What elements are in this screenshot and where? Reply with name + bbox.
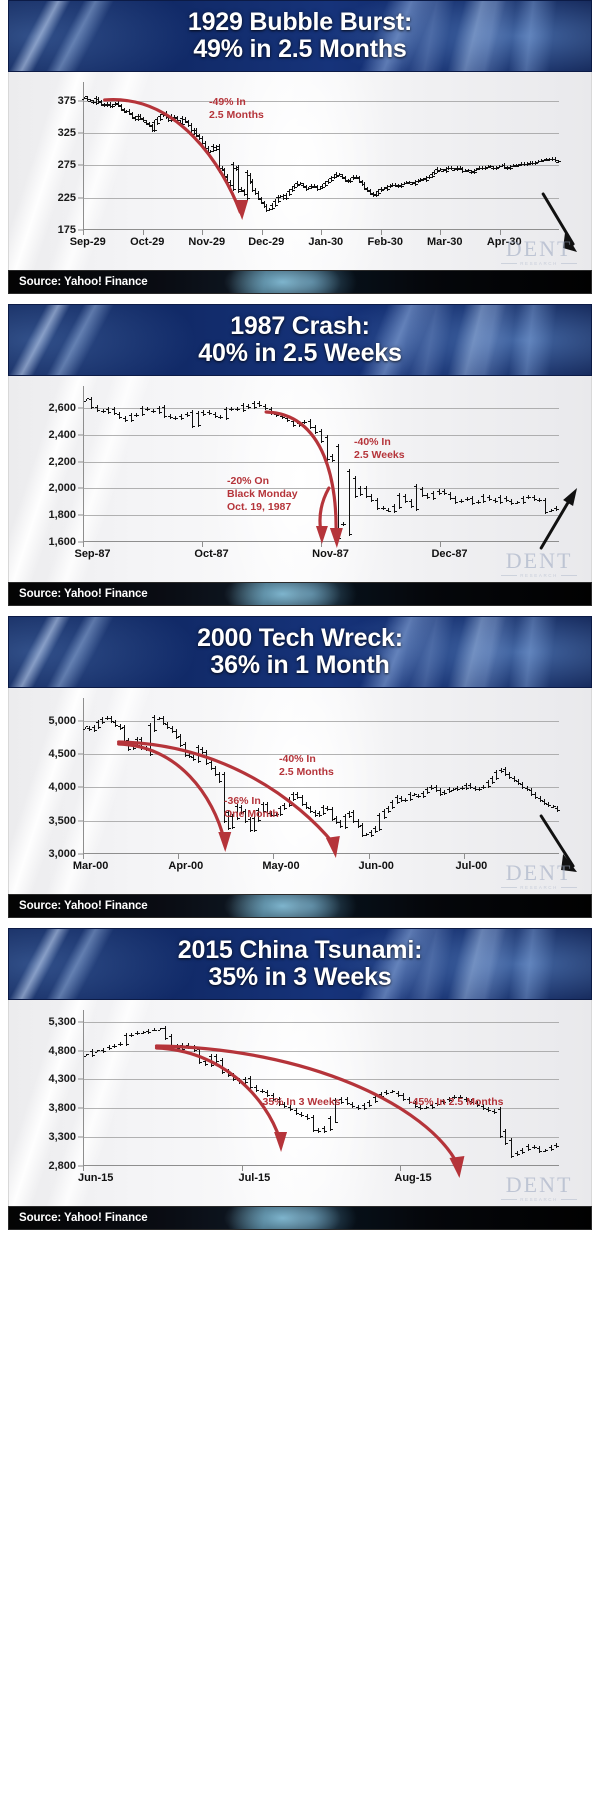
price-bar-open-tick [508, 167, 510, 168]
x-axis-tick-mark [381, 230, 382, 235]
price-bar-open-tick [438, 170, 440, 171]
panel-2000: 2000 Tech Wreck: 36% in 1 Month 3,0003,5… [8, 616, 592, 918]
price-bar-open-tick [371, 194, 373, 195]
price-bar-open-tick [166, 117, 168, 118]
price-bar-close-tick [559, 161, 561, 162]
price-bar-close-tick [395, 511, 397, 512]
price-bar-open-tick [157, 719, 159, 720]
price-bar-close-tick [341, 826, 343, 827]
price-bar-open-tick [487, 497, 489, 498]
price-bar-open-tick [373, 828, 375, 829]
price-bar-close-tick [125, 742, 127, 743]
price-bar-open-tick [354, 177, 356, 178]
x-axis-tick-label: Sep-87 [74, 548, 110, 560]
price-bar-open-tick [218, 417, 220, 418]
price-bar-open-tick [243, 1079, 245, 1080]
price-bar-open-tick [466, 171, 468, 172]
price-bar-open-tick [459, 501, 461, 502]
price-bar-open-tick [105, 718, 107, 719]
x-axis-tick-mark [400, 1166, 401, 1171]
price-bar-open-tick [163, 1028, 165, 1029]
price-bar-open-tick [470, 498, 472, 499]
price-bar-open-tick [538, 798, 540, 799]
y-axis-tick-label: 4,000 [48, 781, 76, 793]
price-bar-close-tick [143, 414, 145, 415]
price-bar-close-tick [339, 538, 341, 539]
price-bar-open-tick [451, 790, 453, 791]
price-bar-open-tick [217, 146, 219, 147]
price-bar-open-tick [313, 427, 315, 428]
price-bar-open-tick [379, 1094, 381, 1095]
x-axis-tick-mark [500, 230, 501, 235]
price-bar-open-tick [118, 726, 120, 727]
price-bar-open-tick [237, 1080, 239, 1081]
price-bar-open-tick [157, 408, 159, 409]
price-bar-close-tick [147, 749, 149, 750]
price-bar-close-tick [233, 827, 235, 828]
price-bar [327, 435, 328, 461]
price-bar-open-tick [144, 748, 146, 749]
x-axis-tick-mark [273, 854, 274, 859]
price-bar-open-tick [301, 185, 303, 186]
gridline [83, 515, 559, 516]
price-bar-open-tick [502, 165, 504, 166]
price-bar-open-tick [403, 800, 405, 801]
x-axis-tick-label: Nov-87 [312, 548, 349, 560]
chart-area-1929: 175225275325375Sep-29Oct-29Nov-29Dec-29J… [8, 72, 592, 270]
gridline [83, 1051, 559, 1052]
y-axis-tick-label: 375 [58, 95, 76, 107]
x-axis-tick-mark [262, 230, 263, 235]
panel-title-banner-1987: 1987 Crash: 40% in 2.5 Weeks [8, 304, 592, 376]
price-bar-open-tick [532, 497, 534, 498]
price-bar-open-tick [407, 183, 409, 184]
price-bar-close-tick [251, 830, 253, 831]
price-bar-open-tick [431, 493, 433, 494]
price-bar-close-tick [172, 120, 174, 121]
price-bar-open-tick [158, 1030, 160, 1031]
dent-wordmark: DENT [501, 862, 577, 884]
price-bar-open-tick [514, 166, 516, 167]
price-bar [427, 493, 428, 500]
price-bar [349, 469, 350, 537]
dent-research-logo: DENT RESEARCH [501, 862, 577, 890]
price-bar-open-tick [351, 177, 353, 178]
price-bar-close-tick [484, 787, 486, 788]
price-bar-close-tick [440, 493, 442, 494]
price-bar-open-tick [356, 1107, 358, 1108]
x-axis-tick-mark [83, 1166, 84, 1171]
source-label: Source: Yahoo! Finance [9, 276, 148, 288]
y-axis-line [83, 386, 84, 542]
price-bar-close-tick [132, 420, 134, 421]
price-bar-open-tick [208, 152, 210, 153]
price-bar-close-tick [95, 730, 97, 731]
price-bar-open-tick [192, 130, 194, 131]
price-bar-open-tick [477, 789, 479, 790]
price-bar-close-tick [255, 830, 257, 831]
price-bar [416, 484, 417, 511]
y-axis-tick-mark [78, 1050, 83, 1051]
price-bar-open-tick [503, 1131, 505, 1132]
price-bar-open-tick [217, 774, 219, 775]
price-bar-open-tick [126, 740, 128, 741]
price-bar-open-tick [187, 755, 189, 756]
price-bar-close-tick [246, 821, 248, 822]
price-bar-open-tick [329, 178, 331, 179]
price-bar-close-tick [285, 808, 287, 809]
price-bar-open-tick [498, 497, 500, 498]
price-bar-close-tick [359, 1108, 361, 1109]
price-bar-open-tick [85, 98, 87, 99]
price-bar-open-tick [165, 724, 167, 725]
infographic-page: 1929 Bubble Burst: 49% in 2.5 Months 175… [0, 0, 600, 1820]
price-bar-open-tick [124, 1035, 126, 1036]
price-bar-open-tick [170, 728, 172, 729]
x-axis-tick-mark [143, 230, 144, 235]
price-bar-close-tick [183, 124, 185, 125]
price-bar-open-tick [395, 797, 397, 798]
price-bar-close-tick [370, 1105, 372, 1106]
x-axis-tick-label: Nov-29 [188, 236, 225, 248]
panel-1987: 1987 Crash: 40% in 2.5 Weeks 1,6001,8002… [8, 304, 592, 606]
price-bar-close-tick [134, 748, 136, 749]
price-bar-open-tick [304, 804, 306, 805]
price-bar-close-tick [447, 171, 449, 172]
price-bar-open-tick [469, 172, 471, 173]
price-bar-open-tick [353, 478, 355, 479]
price-bar-open-tick [242, 191, 244, 192]
annotation-decline-one-month: -36% In One Month [224, 795, 279, 821]
price-bar-open-tick [224, 409, 226, 410]
price-bar-open-tick [374, 194, 376, 195]
price-bar-open-tick [280, 416, 282, 417]
price-bar-close-tick [178, 1048, 180, 1049]
price-bar-open-tick [100, 719, 102, 720]
price-bar-open-tick [152, 1030, 154, 1031]
dent-research-logo: DENT RESEARCH [501, 238, 577, 266]
title-line-1: 2000 Tech Wreck: [197, 624, 403, 652]
price-bar-open-tick [110, 106, 112, 107]
price-bar-open-tick [328, 1118, 330, 1119]
price-bar-open-tick [382, 811, 384, 812]
price-bar-open-tick [416, 796, 418, 797]
price-bar-open-tick [207, 412, 209, 413]
price-bar-close-tick [400, 507, 402, 508]
price-bar-close-tick [333, 460, 335, 461]
price-bar-close-tick [273, 208, 275, 209]
price-bar-open-tick [346, 181, 348, 182]
price-bar-open-tick [375, 500, 377, 501]
y-axis-tick-label: 5,000 [48, 715, 76, 727]
price-bar-open-tick [252, 403, 254, 404]
price-bar-close-tick [294, 799, 296, 800]
price-bar [108, 407, 109, 414]
price-bar-open-tick [276, 197, 278, 198]
price-bar-open-tick [83, 729, 85, 730]
y-axis-tick-label: 3,800 [48, 1102, 76, 1114]
price-bar-open-tick [442, 792, 444, 793]
price-bar-open-tick [486, 782, 488, 783]
price-bar-open-tick [396, 186, 398, 187]
price-bar-open-tick [214, 1056, 216, 1057]
price-bar-open-tick [201, 412, 203, 413]
price-bar-open-tick [364, 488, 366, 489]
price-bar-close-tick [200, 1062, 202, 1063]
price-bar-open-tick [460, 169, 462, 170]
price-bar-open-tick [351, 812, 353, 813]
price-bar-open-tick [472, 171, 474, 172]
price-bar-open-tick [418, 180, 420, 181]
price-bar-open-tick [231, 164, 233, 165]
price-bar-close-tick [176, 418, 178, 419]
price-bar-open-tick [515, 503, 517, 504]
price-bar-open-tick [539, 161, 541, 162]
price-bar [355, 476, 356, 498]
price-bar-open-tick [381, 508, 383, 509]
price-bar-close-tick [279, 201, 281, 202]
price-bar-open-tick [556, 162, 558, 163]
price-bar-open-tick [554, 508, 556, 509]
y-axis-tick-label: 2,200 [48, 456, 76, 468]
price-bar [181, 414, 182, 421]
price-bar-open-tick [140, 408, 142, 409]
price-bar-open-tick [519, 164, 521, 165]
price-bar-open-tick [397, 495, 399, 496]
price-bar-close-tick [385, 817, 387, 818]
price-bar-open-tick [174, 731, 176, 732]
price-bar-close-tick [518, 1154, 520, 1155]
price-bar-open-tick [203, 1061, 205, 1062]
price-bar-close-tick [406, 800, 408, 801]
price-bar-close-tick [255, 407, 257, 408]
gridline [83, 821, 559, 822]
y-axis-tick-label: 1,600 [48, 536, 76, 548]
price-bar-open-tick [403, 496, 405, 497]
price-bar-open-tick [158, 116, 160, 117]
price-bar-close-tick [316, 815, 318, 816]
price-bar-open-tick [549, 1147, 551, 1148]
price-bar-close-tick [294, 425, 296, 426]
price-bar-close-tick [182, 418, 184, 419]
price-bar-close-tick [328, 459, 330, 460]
price-bar-open-tick [144, 122, 146, 123]
price-bar-close-tick [432, 788, 434, 789]
price-bar-open-tick [542, 801, 544, 802]
x-axis-tick-label: Mar-00 [73, 860, 108, 872]
price-bar-open-tick [265, 1092, 267, 1093]
price-bar-close-tick [322, 441, 324, 442]
price-bar-open-tick [106, 409, 108, 410]
price-bar-open-tick [213, 768, 215, 769]
price-bar-open-tick [122, 727, 124, 728]
price-bar-open-tick [304, 187, 306, 188]
price-bar-open-tick [543, 1151, 545, 1152]
price-bar-open-tick [476, 502, 478, 503]
price-bar [265, 404, 266, 411]
price-bar-close-tick [325, 1131, 327, 1132]
price-bar-open-tick [425, 789, 427, 790]
price-bar-open-tick [512, 778, 514, 779]
price-bar-close-tick [376, 1101, 378, 1102]
price-bar-open-tick [235, 409, 237, 410]
price-bar-close-tick [199, 761, 201, 762]
price-bar-open-tick [308, 808, 310, 809]
price-bar-close-tick [121, 728, 123, 729]
price-bar-close-tick [434, 498, 436, 499]
price-bar-open-tick [284, 195, 286, 196]
price-bar-open-tick [84, 1056, 86, 1057]
price-bar-close-tick [417, 509, 419, 510]
price-bar-open-tick [357, 178, 359, 179]
y-axis-tick-mark [78, 461, 83, 462]
price-bar-open-tick [248, 175, 250, 176]
x-axis-tick-mark [369, 854, 370, 859]
x-axis-tick-label: Jun-00 [358, 860, 393, 872]
y-axis-tick-mark [78, 133, 83, 134]
price-bar-open-tick [360, 182, 362, 183]
price-bar [150, 723, 151, 757]
panel-title-text: 2000 Tech Wreck: 36% in 1 Month [197, 625, 403, 680]
price-bar [444, 489, 445, 496]
price-bar-open-tick [437, 491, 439, 492]
price-bar-open-tick [330, 809, 332, 810]
price-bar-open-tick [377, 815, 379, 816]
price-bar-close-tick [188, 415, 190, 416]
price-bar-open-tick [105, 104, 107, 105]
price-bar-open-tick [102, 105, 104, 106]
price-bar-close-tick [336, 1122, 338, 1123]
price-bar-close-tick [454, 789, 456, 790]
price-bar-close-tick [316, 432, 318, 433]
price-bar-open-tick [113, 722, 115, 723]
price-bar-open-tick [312, 186, 314, 187]
price-bar-open-tick [260, 1091, 262, 1092]
panel-title-text: 1987 Crash: 40% in 2.5 Weeks [198, 313, 401, 368]
price-bar-open-tick [318, 189, 320, 190]
price-bar-close-tick [154, 411, 156, 412]
chart-area-1987: 1,6001,8002,0002,2002,4002,600Sep-87Oct-… [8, 376, 592, 582]
price-bar-open-tick [463, 171, 465, 172]
price-bar-close-tick [293, 190, 295, 191]
price-bar-open-tick [183, 744, 185, 745]
price-bar-open-tick [434, 787, 436, 788]
dent-research-logo: DENT RESEARCH [501, 550, 577, 578]
price-bar-close-tick [132, 1035, 134, 1036]
price-bar-open-tick [197, 136, 199, 137]
price-bar-open-tick [179, 416, 181, 417]
price-bar-open-tick [465, 499, 467, 500]
price-bar-close-tick [489, 786, 491, 787]
price-bar-close-tick [121, 1044, 123, 1045]
y-axis-tick-label: 175 [58, 224, 76, 236]
price-bar-open-tick [209, 762, 211, 763]
price-bar-open-tick [379, 189, 381, 190]
price-bar-close-tick [512, 1156, 514, 1157]
price-bar-close-tick [558, 810, 560, 811]
price-bar-close-tick [193, 426, 195, 427]
price-bar-close-tick [204, 414, 206, 415]
price-bar-open-tick [373, 1097, 375, 1098]
price-bar-open-tick [340, 176, 342, 177]
price-bar-open-tick [516, 781, 518, 782]
price-bar-open-tick [368, 191, 370, 192]
price-bar-open-tick [200, 749, 202, 750]
price-bar-open-tick [196, 413, 198, 414]
x-axis-tick-label: Jul-00 [456, 860, 488, 872]
dent-subtitle: RESEARCH [520, 261, 558, 266]
price-bar-open-tick [458, 168, 460, 169]
price-bar-open-tick [500, 166, 502, 167]
price-bar-open-tick [334, 174, 336, 175]
price-bar-close-tick [110, 1048, 112, 1049]
price-bar-close-tick [467, 788, 469, 789]
price-bar-close-tick [496, 501, 498, 502]
x-axis-tick-mark [440, 542, 441, 547]
price-bar-open-tick [413, 182, 415, 183]
price-bar-open-tick [493, 500, 495, 501]
price-bar-open-tick [281, 196, 283, 197]
price-bar [500, 1107, 501, 1138]
dent-research-logo: DENT RESEARCH [501, 1174, 577, 1202]
x-axis-tick-mark [83, 230, 84, 235]
price-bar-open-tick [543, 500, 545, 501]
price-bar-close-tick [104, 1051, 106, 1052]
x-axis-tick-mark [178, 854, 179, 859]
price-bar [511, 1138, 512, 1159]
price-bar-close-tick [329, 182, 331, 183]
price-bar-open-tick [503, 769, 505, 770]
price-bar-open-tick [460, 788, 462, 789]
x-axis-tick-label: Feb-30 [368, 236, 403, 248]
plot-region-1987: 1,6001,8002,0002,2002,4002,600Sep-87Oct-… [83, 392, 559, 542]
x-axis-tick-mark [440, 230, 441, 235]
price-bar-open-tick [449, 168, 451, 169]
y-axis-tick-mark [78, 100, 83, 101]
price-bar-close-tick [546, 512, 548, 513]
price-bar-close-tick [502, 771, 504, 772]
price-bar-open-tick [369, 496, 371, 497]
source-bar-2015: Source: Yahoo! Finance [8, 1206, 592, 1230]
price-bar-open-tick [427, 177, 429, 178]
price-bar-close-tick [320, 815, 322, 816]
price-bar-open-tick [178, 736, 180, 737]
price-bar-open-tick [92, 727, 94, 728]
price-bar-close-tick [126, 420, 128, 421]
price-bar-close-tick [238, 409, 240, 410]
price-bar-open-tick [200, 138, 202, 139]
price-bar-open-tick [204, 752, 206, 753]
gridline [83, 101, 559, 102]
price-bar-open-tick [107, 1047, 109, 1048]
price-bar-close-tick [103, 722, 105, 723]
price-bar-open-tick [90, 1051, 92, 1052]
price-bar-open-tick [99, 102, 101, 103]
plot-region-2000: 3,0003,5004,0004,5005,000Mar-00Apr-00May… [83, 704, 559, 854]
price-bar-open-tick [127, 111, 129, 112]
price-bar-open-tick [287, 191, 289, 192]
price-bar-open-tick [122, 110, 124, 111]
price-bar-close-tick [324, 813, 326, 814]
price-bar-open-tick [530, 163, 532, 164]
y-axis-tick-mark [78, 1137, 83, 1138]
price-bar-open-tick [464, 785, 466, 786]
price-bar [506, 496, 507, 503]
price-bar-open-tick [488, 167, 490, 168]
price-bar-open-tick [206, 148, 208, 149]
price-bar-open-tick [410, 184, 412, 185]
price-bar-close-tick [249, 407, 251, 408]
